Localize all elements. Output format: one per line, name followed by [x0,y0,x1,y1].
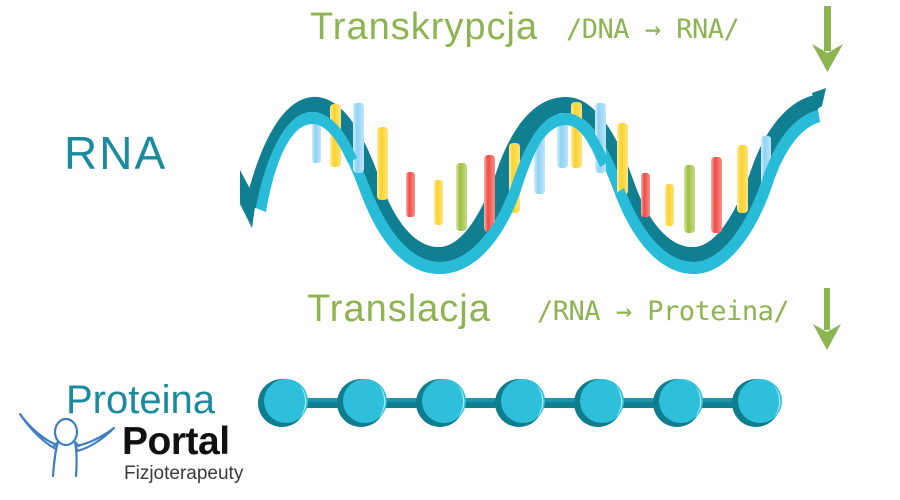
protein-bead [416,379,466,427]
logo-brand-line1: Proteina [66,378,215,423]
protein-bead [732,379,782,427]
protein-bead [337,379,387,427]
logo-tagline: Fizjoterapeuty [124,463,243,485]
protein-bead [574,379,624,427]
infographic-canvas: Transkrypcja /DNA → RNA/ RNA [0,0,900,500]
protein-bead [258,379,308,427]
protein-bead [495,379,545,427]
logo-brand-line2: Portal [122,420,230,464]
site-logo[interactable]: Proteina Portal Fizjoterapeuty [14,378,264,496]
protein-bead [653,379,703,427]
